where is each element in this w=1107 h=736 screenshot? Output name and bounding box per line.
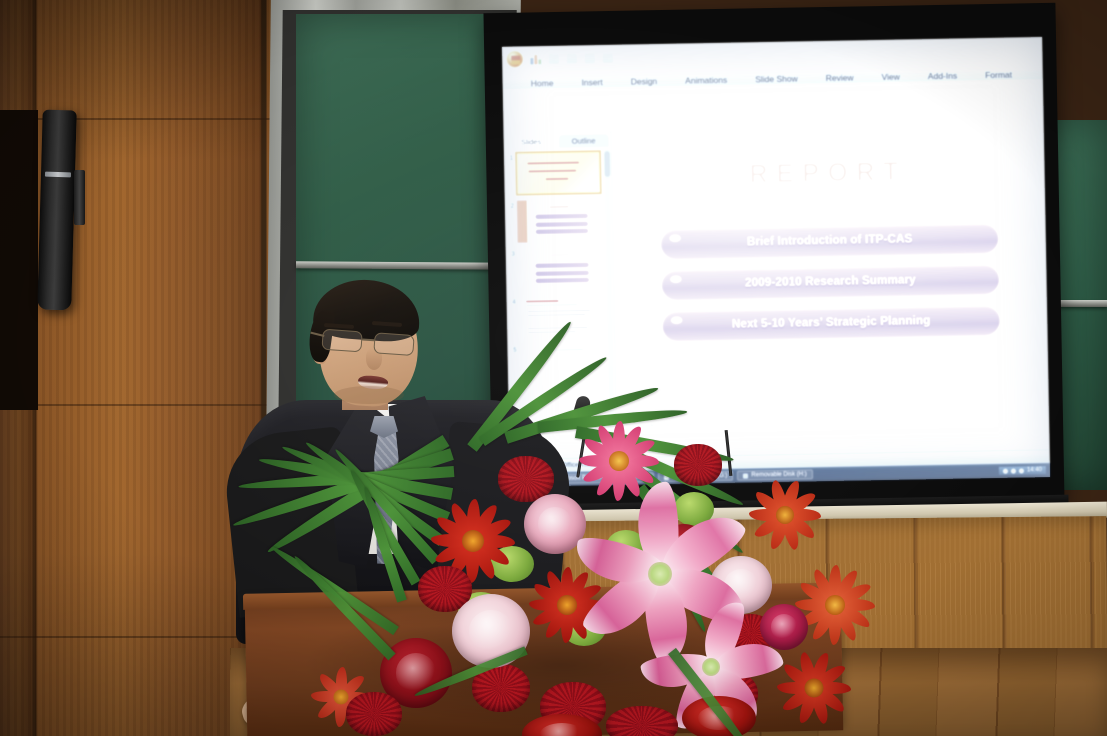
flower-center [609,451,629,471]
slide-title: REPORT [749,158,907,190]
tab-format[interactable]: Format [979,68,1018,81]
shield-icon[interactable] [1019,468,1024,473]
lens-right [373,332,414,356]
speaker-wall-bracket [74,170,85,225]
thumbnail-number: 3 [509,248,515,258]
tab-home[interactable]: Home [525,77,560,90]
palm-frond-front [269,543,399,635]
redo-icon[interactable] [566,52,577,63]
slide-bullet-1[interactable]: Brief Introduction of ITP-CAS [661,223,999,259]
office-orb-icon[interactable] [506,50,523,67]
volume-icon[interactable] [1011,468,1016,473]
slide-thumbnail-1[interactable] [515,150,602,196]
tab-slide-show[interactable]: Slide Show [749,72,804,85]
slide-thumbnail-2[interactable] [516,198,603,244]
thumbnail-number: 2 [508,200,514,210]
chart-icon[interactable] [530,53,541,64]
chevron-down-icon[interactable] [602,51,613,62]
lens-left [321,329,362,353]
lily-center [702,658,720,676]
flower-center [825,595,845,615]
speaker-badge [45,172,71,178]
thumbnail-number: 1 [507,152,513,162]
gerbera-red [774,648,854,728]
slide-bullet-2[interactable]: 2009-2010 Research Summary [661,264,999,300]
title-underline [745,189,913,193]
carnation-red [606,706,678,736]
palm-frond-front [291,553,395,661]
pane-tab-slides[interactable]: Slides [506,135,557,149]
flower-bouquet [276,396,896,736]
undo-icon[interactable] [548,52,559,63]
bullet-label: Next 5-10 Years’ Strategic Planning [732,315,931,331]
flower-center [334,690,349,705]
tab-review[interactable]: Review [820,71,860,84]
bullet-label: Brief Introduction of ITP-CAS [747,233,913,248]
lecture-hall-photo: Home Insert Design Animations Slide Show… [0,0,1107,736]
glasses-bridge [362,338,374,340]
slide-bullet-3[interactable]: Next 5-10 Years’ Strategic Planning [662,305,1000,341]
tab-view[interactable]: View [875,71,905,84]
bullet-label: 2009-2010 Research Summary [745,274,916,289]
flower-center [805,679,824,698]
lily-center [648,562,672,586]
tab-insert[interactable]: Insert [575,76,608,89]
slide-bullet-list: Brief Introduction of ITP-CAS 2009-2010 … [661,223,1001,341]
tab-add-ins[interactable]: Add-Ins [922,70,964,83]
clock[interactable]: 14:40 [1027,467,1042,473]
tab-animations[interactable]: Animations [679,74,733,87]
wall-recess-panel [0,110,38,410]
list-item: 1 [507,150,602,196]
pane-tab-outline[interactable]: Outline [558,134,609,148]
current-slide[interactable]: REPORT Brief Introduction of ITP-CAS 200… [626,134,1035,410]
save-icon[interactable] [584,52,595,63]
carnation-red [346,692,402,736]
network-icon[interactable] [1003,468,1008,473]
flower-center [776,506,794,524]
flower-center [462,530,484,552]
list-item: 2 [508,198,603,244]
tab-design[interactable]: Design [625,75,664,88]
system-tray[interactable]: 14:40 [999,466,1046,475]
column-loudspeaker [37,110,77,311]
